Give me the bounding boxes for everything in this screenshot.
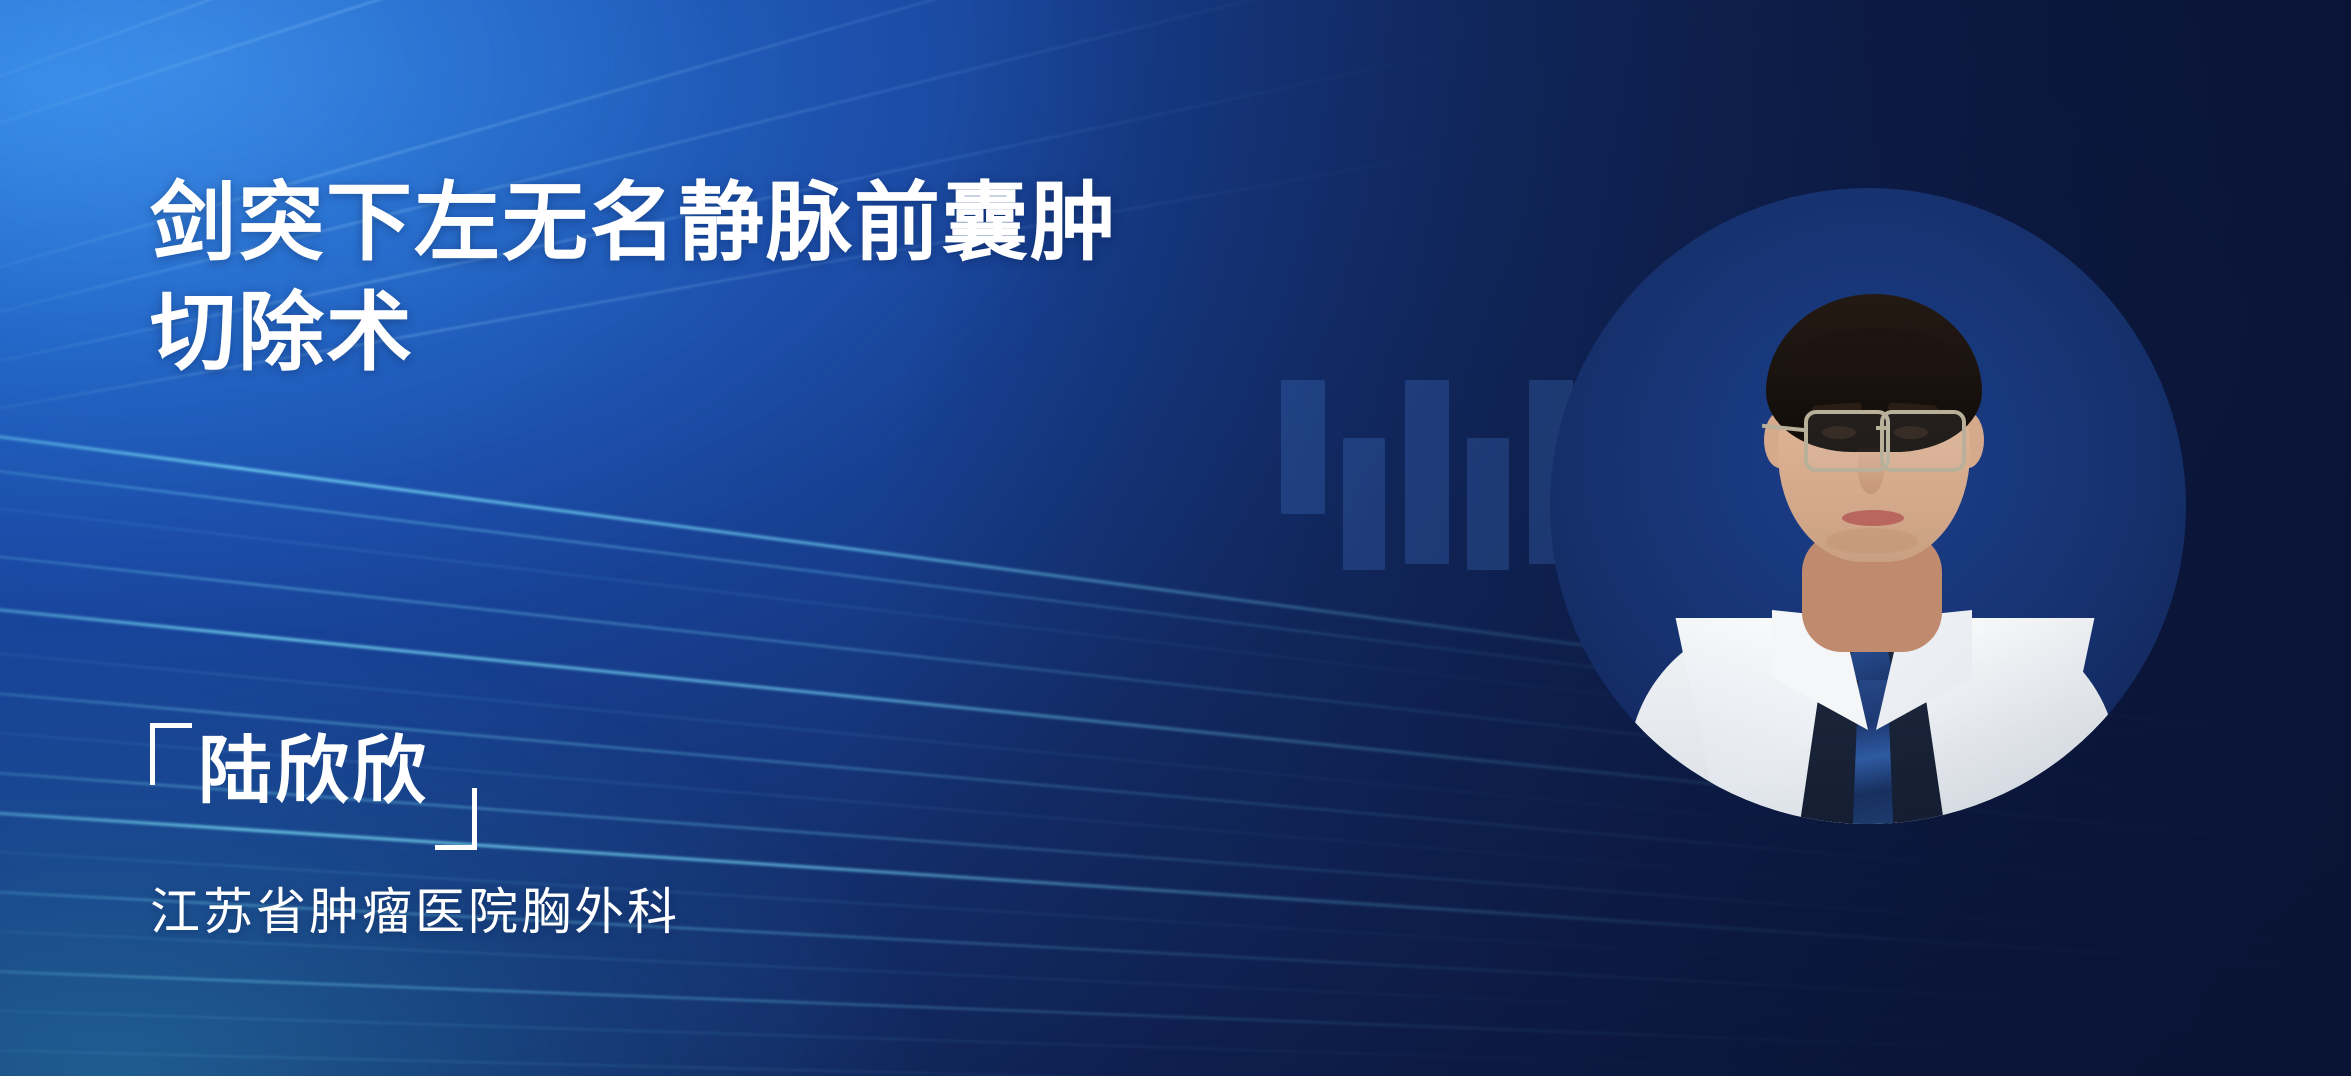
glasses-bridge xyxy=(1876,426,1888,430)
glasses-lens-left xyxy=(1804,410,1890,472)
speaker-banner: 剑突下左无名静脉前囊肿 切除术 陆欣欣 江苏省肿瘤医院胸外科 xyxy=(0,0,2351,1076)
title-line-2: 切除术 xyxy=(150,278,1430,388)
chin-shadow xyxy=(1826,528,1918,554)
title-line-1: 剑突下左无名静脉前囊肿 xyxy=(150,168,1430,278)
speaker-affiliation: 江苏省肿瘤医院胸外科 xyxy=(150,872,680,944)
page-title: 剑突下左无名静脉前囊肿 切除术 xyxy=(150,168,1430,388)
bracket-close-icon xyxy=(435,754,477,850)
decorative-bar xyxy=(1467,438,1509,570)
avatar xyxy=(1538,176,2198,836)
mouth xyxy=(1842,510,1904,526)
decorative-bar xyxy=(1343,438,1385,570)
speaker-name-row: 陆欣欣 xyxy=(150,710,477,832)
speaker-name: 陆欣欣 xyxy=(198,734,429,808)
portrait-photo xyxy=(1550,188,2186,824)
bracket-open-icon xyxy=(150,723,192,819)
glasses-lens-right xyxy=(1880,410,1966,472)
decorative-bar xyxy=(1281,380,1325,514)
decorative-bar xyxy=(1405,380,1449,564)
